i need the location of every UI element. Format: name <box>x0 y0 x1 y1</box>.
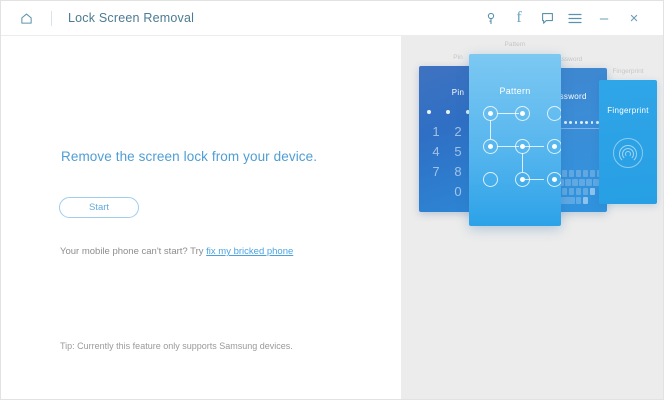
pin-dot <box>427 110 431 114</box>
pin-key: 5 <box>447 144 469 159</box>
fingerprint-icon <box>613 138 643 168</box>
pattern-card-title: Pattern <box>469 86 561 96</box>
headline-text: Remove the screen lock from your device. <box>61 149 317 164</box>
pattern-node <box>547 172 561 187</box>
pin-dot <box>446 110 450 114</box>
tip-text: Tip: Currently this feature only support… <box>60 341 293 351</box>
key-icon[interactable] <box>477 5 505 31</box>
pattern-node <box>483 106 498 121</box>
pattern-line <box>490 120 491 139</box>
lock-types-illustration: Pin Pattern Password Fingerprint Pin 1 <box>401 36 663 399</box>
pattern-node <box>515 172 530 187</box>
titlebar-icon-group: f – × <box>477 5 649 31</box>
card-label-fingerprint: Fingerprint <box>599 68 657 75</box>
left-panel: Remove the screen lock from your device.… <box>1 36 401 399</box>
pin-key: 2 <box>447 124 469 139</box>
pattern-node <box>547 139 561 154</box>
minimize-glyph: – <box>600 11 608 26</box>
pattern-node <box>483 139 498 154</box>
hint-prefix: Your mobile phone can't start? Try <box>60 246 206 257</box>
bricked-phone-hint: Your mobile phone can't start? Try fix m… <box>60 246 293 257</box>
close-glyph: × <box>630 11 639 26</box>
pattern-node <box>515 106 530 121</box>
start-button[interactable]: Start <box>59 197 139 218</box>
pin-key: 7 <box>425 164 447 179</box>
pattern-node <box>515 139 530 154</box>
title-separator <box>51 11 52 26</box>
facebook-glyph: f <box>516 10 521 26</box>
start-button-label: Start <box>89 202 109 213</box>
fingerprint-card-title: Fingerprint <box>599 106 657 115</box>
pattern-card: Pattern <box>469 54 561 226</box>
fingerprint-card: Fingerprint <box>599 80 657 204</box>
pin-key: 1 <box>425 124 447 139</box>
pin-key: 0 <box>447 184 469 199</box>
menu-icon[interactable] <box>561 5 589 31</box>
facebook-icon[interactable]: f <box>505 5 533 31</box>
feedback-icon[interactable] <box>533 5 561 31</box>
pin-key: 4 <box>425 144 447 159</box>
pattern-node <box>547 106 561 121</box>
minimize-button[interactable]: – <box>589 5 619 31</box>
pattern-node <box>483 172 498 187</box>
title-bar: Lock Screen Removal f <box>1 1 663 36</box>
page-title: Lock Screen Removal <box>68 11 194 25</box>
close-button[interactable]: × <box>619 5 649 31</box>
pattern-grid <box>483 106 547 188</box>
card-label-pattern: Pattern <box>469 41 561 48</box>
right-panel: Pin Pattern Password Fingerprint Pin 1 <box>401 36 663 399</box>
content-area: Remove the screen lock from your device.… <box>1 36 663 399</box>
app-window: Lock Screen Removal f <box>0 0 664 400</box>
home-icon[interactable] <box>15 7 37 29</box>
fix-bricked-phone-link[interactable]: fix my bricked phone <box>206 246 293 257</box>
pattern-line <box>522 153 523 172</box>
pin-key: 8 <box>447 164 469 179</box>
